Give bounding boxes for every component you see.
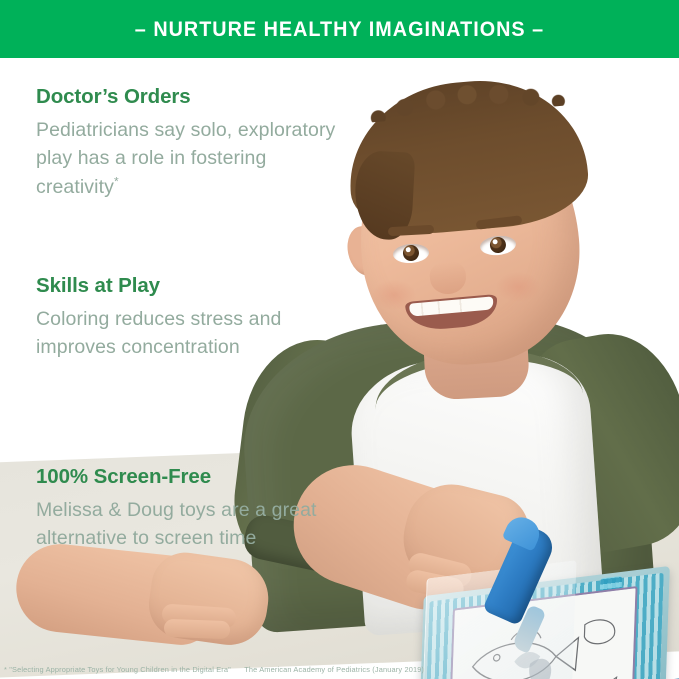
feature-body: Melissa & Doug toys are a great alternat… (36, 496, 336, 554)
banner-title: – NURTURE HEALTHY IMAGINATIONS – (135, 17, 544, 42)
feature-heading: Skills at Play (36, 275, 336, 298)
feature-body: Coloring reduces stress and improves con… (36, 305, 336, 363)
feature-body: Pediatricians say solo, exploratory play… (36, 116, 336, 203)
footnote-marker: * (4, 665, 7, 674)
finger (164, 619, 231, 639)
footnote-source: The American Academy of Pediatrics (Janu… (244, 665, 424, 674)
feature-block-skills-at-play: Skills at Play Coloring reduces stress a… (36, 275, 336, 362)
feature-block-screen-free: 100% Screen-Free Melissa & Doug toys are… (36, 466, 336, 553)
product-feature-image: – NURTURE HEALTHY IMAGINATIONS – (0, 0, 679, 679)
feature-heading: Doctor’s Orders (36, 86, 336, 109)
footnote: * "Selecting Appropriate Toys for Young … (4, 665, 424, 674)
footnote-marker: * (114, 175, 119, 189)
cheek-right (496, 272, 540, 302)
feature-heading: 100% Screen-Free (36, 466, 336, 489)
feature-block-doctors-orders: Doctor’s Orders Pediatricians say solo, … (36, 86, 336, 202)
header-banner: – NURTURE HEALTHY IMAGINATIONS – (0, 0, 679, 58)
footnote-title: "Selecting Appropriate Toys for Young Ch… (9, 665, 231, 674)
